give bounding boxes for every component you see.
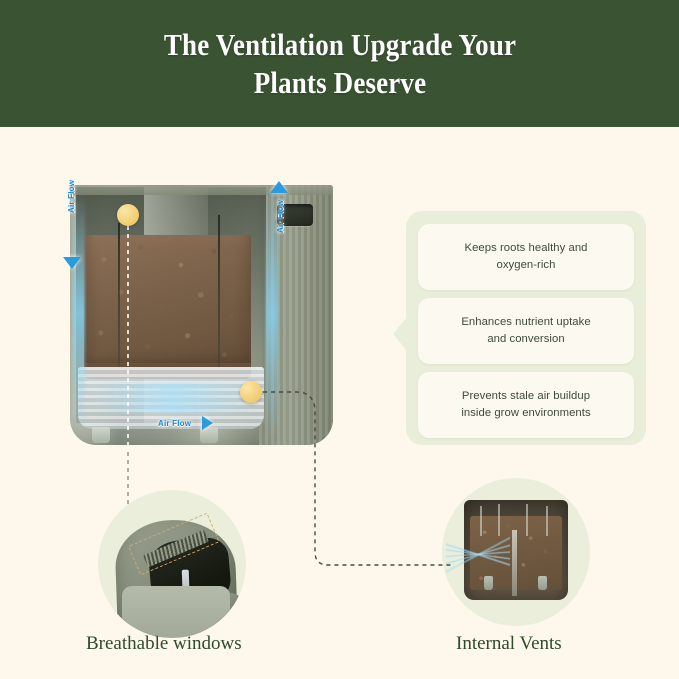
airflow-arrow-right-icon — [270, 181, 288, 193]
soil-divider-right — [218, 215, 220, 375]
planter-foot-left — [92, 427, 110, 443]
feature-card-1[interactable]: Keeps roots healthy and oxygen-rich — [418, 224, 634, 290]
pot-center-column — [512, 530, 517, 596]
planter-lower-shell — [122, 586, 230, 638]
pot-rib-3 — [526, 504, 528, 536]
header-banner: The Ventilation Upgrade Your Plants Dese… — [0, 0, 679, 127]
feature-card-1-line1: Keeps roots healthy and — [465, 242, 588, 254]
airflow-arrow-left-icon — [63, 257, 81, 269]
soil-mass — [84, 235, 251, 371]
product-illustration: Air Flow Air Flow Air Flow — [62, 185, 342, 455]
caption-breathable-windows: Breathable windows — [86, 633, 242, 655]
detail-circle-breathable-windows — [98, 490, 246, 638]
planter-top-cap — [70, 185, 333, 195]
airflow-glow-left — [73, 193, 85, 433]
pot-rib-4 — [546, 506, 548, 536]
planter-body — [70, 185, 333, 445]
airflow-label-right: Air Flow — [276, 200, 285, 233]
feature-card-2-line2: and conversion — [487, 333, 564, 345]
callout-marker-top[interactable] — [117, 204, 139, 226]
caption-internal-vents: Internal Vents — [456, 633, 562, 655]
infographic-page: The Ventilation Upgrade Your Plants Dese… — [0, 0, 679, 679]
feature-card-2-line1: Enhances nutrient uptake — [461, 316, 590, 328]
detail-circle-internal-vents — [442, 478, 590, 626]
feature-card-3-line2: inside grow environments — [461, 407, 590, 419]
page-title-line1: The Ventilation Upgrade Your — [163, 27, 515, 62]
feature-card-3-line1: Prevents stale air buildup — [462, 390, 590, 402]
page-title: The Ventilation Upgrade Your Plants Dese… — [113, 26, 565, 102]
feature-card-group: Keeps roots healthy and oxygen-rich Enha… — [406, 211, 646, 445]
feature-card-1-line2: oxygen-rich — [497, 259, 556, 271]
soil-divider-left — [118, 223, 120, 373]
feature-card-3[interactable]: Prevents stale air buildup inside grow e… — [418, 372, 634, 438]
airflow-glow-bottom — [88, 383, 258, 413]
feature-group-pointer-icon — [393, 317, 407, 351]
airflow-label-bottom: Air Flow — [158, 419, 191, 428]
airflow-arrow-bottom-icon — [202, 416, 213, 430]
callout-marker-bottom[interactable] — [240, 381, 262, 403]
feature-card-2[interactable]: Enhances nutrient uptake and conversion — [418, 298, 634, 364]
page-title-line2: Plants Deserve — [253, 65, 425, 100]
pot-leg-right — [538, 576, 547, 590]
airflow-label-left: Air Flow — [67, 180, 76, 213]
internal-airflow-lines — [446, 524, 510, 582]
